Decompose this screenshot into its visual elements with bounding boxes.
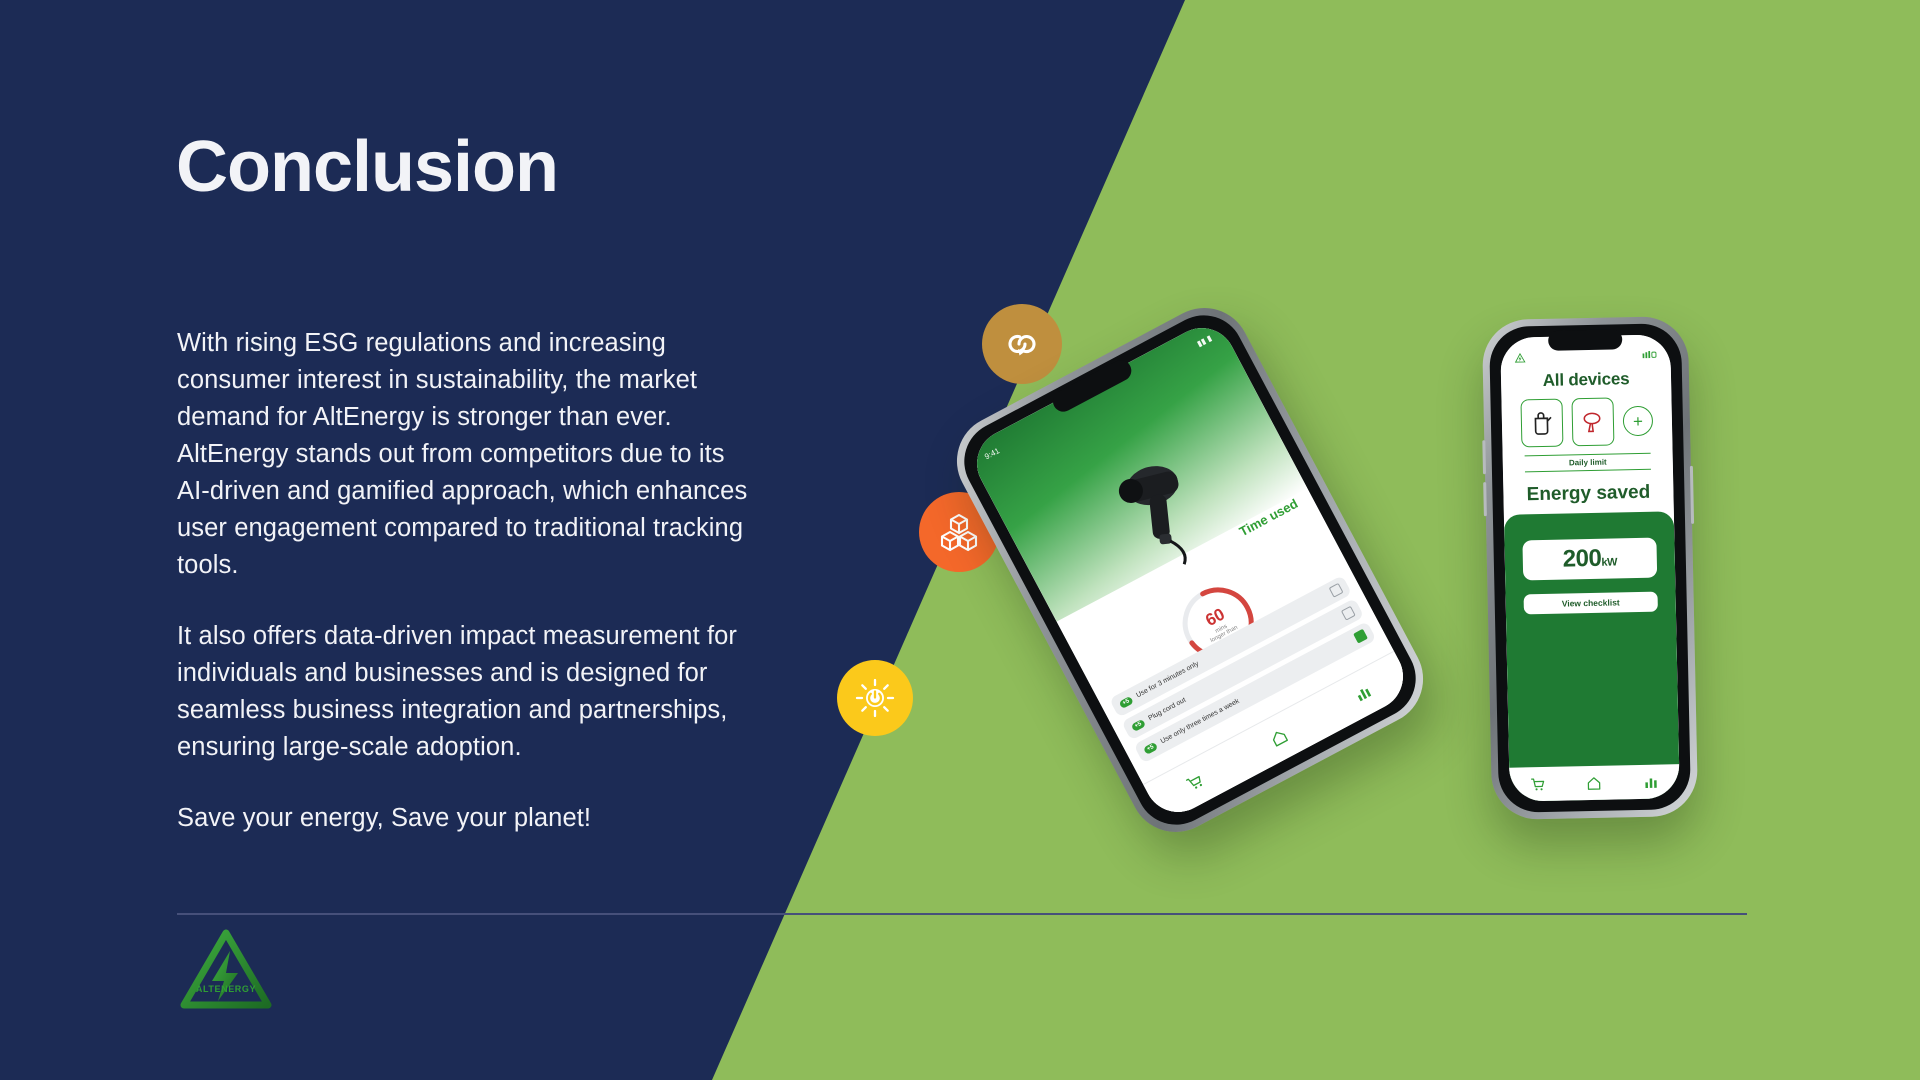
volume-up-button[interactable] xyxy=(1482,440,1486,474)
daily-limit-label: Daily limit xyxy=(1525,453,1651,473)
device-card-kettle[interactable] xyxy=(1520,399,1563,448)
triangle-bolt-icon xyxy=(1514,352,1525,363)
slide-root: Conclusion With rising ESG regulations a… xyxy=(0,0,1920,1080)
view-checklist-button[interactable]: View checklist xyxy=(1524,592,1658,615)
chart-icon[interactable] xyxy=(1643,774,1658,789)
phone-b-screen: All devices xyxy=(1500,334,1680,801)
tip-points-badge: +5 xyxy=(1143,741,1158,754)
energy-saved-panel: 200kW View checklist xyxy=(1504,511,1680,801)
all-devices-screen: All devices xyxy=(1500,334,1680,801)
cart-icon[interactable] xyxy=(1530,776,1545,791)
signal-battery-icon xyxy=(1642,351,1656,361)
footer-divider xyxy=(177,913,1747,915)
energy-saved-value-pill: 200kW xyxy=(1522,538,1657,581)
tip-points-badge: +5 xyxy=(1131,718,1146,731)
tip-checkbox[interactable] xyxy=(1353,629,1368,644)
home-icon[interactable] xyxy=(1587,775,1602,790)
logo-wordmark: ALTENERGY xyxy=(178,984,274,994)
phone-mockup-upright: All devices xyxy=(1482,316,1698,820)
add-device-button[interactable]: + xyxy=(1623,406,1654,437)
energy-sun-icon xyxy=(837,660,913,736)
volume-down-button[interactable] xyxy=(1483,482,1487,516)
phone-b-frame: All devices xyxy=(1482,316,1698,820)
tip-points-badge: +5 xyxy=(1118,695,1133,708)
energy-saved-unit: kW xyxy=(1601,556,1617,568)
home-icon[interactable] xyxy=(1268,727,1290,749)
phone-b-notch xyxy=(1548,329,1622,351)
paragraph-2: It also offers data-driven impact measur… xyxy=(177,618,757,766)
device-card-hairdryer[interactable] xyxy=(1571,397,1614,446)
phone-b-bottom-nav xyxy=(1509,764,1680,802)
energy-saved-value: 200 xyxy=(1562,545,1601,573)
page-title: Conclusion xyxy=(176,131,558,203)
kettle-icon xyxy=(1531,410,1554,436)
all-devices-title: All devices xyxy=(1501,362,1672,400)
tip-checkbox[interactable] xyxy=(1329,583,1344,598)
chart-icon[interactable] xyxy=(1352,683,1374,705)
hairdryer-icon xyxy=(1581,410,1605,434)
cart-icon[interactable] xyxy=(1185,771,1207,793)
devices-row: + xyxy=(1501,396,1672,456)
altenergy-logo-icon xyxy=(178,925,274,1013)
tip-checkbox[interactable] xyxy=(1341,606,1356,621)
infinity-recycle-icon xyxy=(982,304,1062,384)
energy-saved-title: Energy saved xyxy=(1503,479,1674,515)
paragraph-3-tagline: Save your energy, Save your planet! xyxy=(177,800,757,837)
body-text-column: With rising ESG regulations and increasi… xyxy=(177,325,757,837)
phone-b-bezel: All devices xyxy=(1489,323,1691,813)
paragraph-1: With rising ESG regulations and increasi… xyxy=(177,325,757,584)
